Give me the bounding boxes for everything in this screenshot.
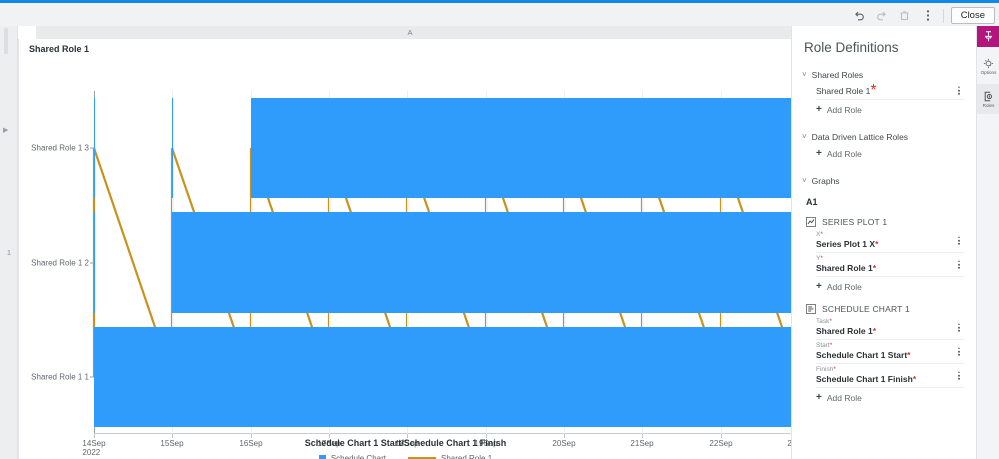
plot-area[interactable]: 14Sep202215Sep16Sep17Sep18Sep19Sep20Sep2… bbox=[94, 91, 799, 434]
required-marker: * bbox=[873, 263, 876, 273]
rail-handle[interactable] bbox=[4, 28, 8, 54]
group-heading: SERIES PLOT 1 bbox=[822, 217, 887, 227]
required-marker: * bbox=[830, 342, 833, 349]
schedule-bar-milestone[interactable] bbox=[172, 98, 173, 199]
plus-icon: + bbox=[816, 282, 822, 292]
required-marker: * bbox=[875, 239, 878, 249]
role-field-label: Start* bbox=[816, 342, 964, 350]
rail-item-options[interactable]: Options bbox=[977, 51, 999, 81]
sheet-corner-cell bbox=[18, 26, 36, 39]
shared-role-row[interactable]: Shared Role 1* bbox=[816, 82, 964, 100]
role-field-label: Task* bbox=[816, 318, 964, 326]
required-marker: * bbox=[820, 231, 823, 238]
chart-panel: Shared Role 1 14Sep202215Sep16Sep17Sep18… bbox=[18, 39, 791, 459]
section-shared-roles: ˅ Shared Roles Shared Role 1* + Add Role bbox=[792, 68, 976, 117]
section-graphs: ˅ Graphs A1 bbox=[792, 174, 976, 207]
legend-label: Schedule Chart bbox=[331, 454, 386, 459]
role-field-value: Shared Role 1* bbox=[816, 263, 964, 274]
rail-collapse-icon[interactable]: ▶ bbox=[3, 126, 8, 134]
row-kebab-icon[interactable] bbox=[954, 321, 964, 333]
add-role-label: Add Role bbox=[827, 282, 862, 292]
add-role-lattice-roles[interactable]: + Add Role bbox=[816, 146, 976, 161]
plus-icon: + bbox=[816, 149, 822, 159]
required-marker: * bbox=[820, 255, 823, 262]
group-header-schedule-chart-1[interactable]: SCHEDULE CHART 1 bbox=[806, 304, 976, 314]
sheet-tab-a[interactable]: A bbox=[380, 26, 440, 39]
add-role-label: Add Role bbox=[827, 393, 862, 403]
right-icon-rail: Options Roles bbox=[976, 26, 999, 459]
row-kebab-icon[interactable] bbox=[954, 258, 964, 270]
plus-icon: + bbox=[816, 393, 822, 403]
section-header-graphs[interactable]: ˅ Graphs bbox=[792, 174, 976, 188]
required-marker: * bbox=[873, 326, 876, 336]
panel-title: Role Definitions bbox=[804, 40, 976, 55]
role-field-label: Finish* bbox=[816, 366, 964, 374]
sheet-tab-a-label: A bbox=[380, 26, 440, 39]
close-button[interactable]: Close bbox=[951, 7, 995, 24]
chevron-down-icon: ˅ bbox=[802, 133, 807, 141]
required-marker: * bbox=[907, 350, 910, 360]
row-kebab-icon[interactable] bbox=[954, 234, 964, 246]
y-tick-label: Shared Role 1 2 bbox=[31, 258, 89, 267]
chart-title: Shared Role 1 bbox=[29, 44, 89, 54]
role-definitions-panel: Role Definitions ˅ Shared Roles Shared R… bbox=[791, 26, 976, 459]
group-header-series-plot-1[interactable]: SERIES PLOT 1 bbox=[806, 217, 976, 227]
legend-item[interactable]: Shared Role 1 bbox=[408, 454, 492, 459]
row-kebab-icon[interactable] bbox=[954, 345, 964, 357]
left-rail: ▶ 1 bbox=[0, 26, 18, 459]
graph-name: A1 bbox=[806, 197, 976, 207]
chart-legend: Schedule ChartShared Role 1 bbox=[19, 454, 792, 459]
row-kebab-icon[interactable] bbox=[954, 369, 964, 381]
x-axis-caption: Schedule Chart 1 Start/Schedule Chart 1 … bbox=[19, 438, 792, 448]
required-marker: * bbox=[913, 374, 916, 384]
rail-item-label: Roles bbox=[983, 103, 995, 108]
options-gear-icon bbox=[983, 58, 994, 69]
rail-row-number: 1 bbox=[0, 248, 18, 257]
section-label: Graphs bbox=[812, 176, 840, 186]
top-toolbar: Close bbox=[0, 3, 999, 26]
series-plot-icon bbox=[806, 217, 816, 227]
legend-swatch bbox=[319, 455, 326, 459]
section-header-lattice-roles[interactable]: ˅ Data Driven Lattice Roles bbox=[792, 130, 976, 144]
add-role-shared-roles[interactable]: + Add Role bbox=[816, 102, 976, 117]
role-field-row[interactable]: Start*Schedule Chart 1 Start* bbox=[816, 340, 964, 364]
role-field-value: Shared Role 1* bbox=[816, 326, 964, 337]
role-field-value: Schedule Chart 1 Start* bbox=[816, 350, 964, 361]
schedule-bar[interactable] bbox=[172, 212, 799, 313]
trash-icon[interactable] bbox=[897, 8, 913, 24]
pin-icon[interactable] bbox=[977, 26, 999, 47]
section-label: Shared Roles bbox=[812, 70, 864, 80]
section-label: Data Driven Lattice Roles bbox=[812, 132, 908, 142]
roles-icon bbox=[983, 91, 994, 102]
shared-role-name: Shared Role 1 bbox=[816, 86, 870, 96]
role-field-row[interactable]: Task*Shared Role 1* bbox=[816, 316, 964, 340]
group-fields-schedule-chart-1: Task*Shared Role 1*Start*Schedule Chart … bbox=[792, 316, 976, 388]
group-fields-series-plot-1: X*Series Plot 1 X*Y*Shared Role 1* bbox=[792, 229, 976, 277]
schedule-bar[interactable] bbox=[94, 327, 799, 428]
role-field-value: Schedule Chart 1 Finish* bbox=[816, 374, 964, 385]
toolbar-divider bbox=[943, 9, 944, 23]
group-heading: SCHEDULE CHART 1 bbox=[822, 304, 910, 314]
role-field-row[interactable]: X*Series Plot 1 X* bbox=[816, 229, 964, 253]
plus-icon: + bbox=[816, 105, 822, 115]
y-tick-label: Shared Role 1 1 bbox=[31, 372, 89, 381]
section-data-driven-lattice-roles: ˅ Data Driven Lattice Roles + Add Role bbox=[792, 130, 976, 161]
chevron-down-icon: ˅ bbox=[802, 71, 807, 79]
role-field-label: Y* bbox=[816, 255, 964, 263]
schedule-bar-milestone[interactable] bbox=[94, 212, 95, 313]
schedule-bar-milestone[interactable] bbox=[94, 98, 95, 199]
redo-icon[interactable] bbox=[874, 8, 890, 24]
role-field-label: X* bbox=[816, 231, 964, 239]
legend-item[interactable]: Schedule Chart bbox=[319, 454, 386, 459]
rail-item-label: Options bbox=[981, 70, 997, 75]
kebab-menu-icon[interactable] bbox=[920, 8, 936, 24]
rail-item-roles[interactable]: Roles bbox=[977, 84, 999, 114]
role-field-row[interactable]: Finish*Schedule Chart 1 Finish* bbox=[816, 364, 964, 388]
y-tick-label: Shared Role 1 3 bbox=[31, 144, 89, 153]
section-header-shared-roles[interactable]: ˅ Shared Roles bbox=[792, 68, 976, 82]
chevron-down-icon: ˅ bbox=[802, 177, 807, 185]
schedule-chart-icon bbox=[806, 304, 816, 314]
add-role-schedule-chart-1[interactable]: + Add Role bbox=[816, 390, 976, 405]
legend-label: Shared Role 1 bbox=[441, 454, 492, 459]
add-role-label: Add Role bbox=[827, 149, 862, 159]
add-role-label: Add Role bbox=[827, 105, 862, 115]
row-kebab-icon[interactable] bbox=[954, 84, 964, 96]
required-marker: * bbox=[829, 318, 832, 325]
required-marker: * bbox=[833, 366, 836, 373]
undo-icon[interactable] bbox=[851, 8, 867, 24]
required-marker: * bbox=[870, 82, 876, 100]
toolbar-actions: Close bbox=[851, 7, 995, 24]
schedule-bar[interactable] bbox=[251, 98, 799, 199]
role-field-row[interactable]: Y*Shared Role 1* bbox=[816, 253, 964, 277]
application-window: Close ▶ 1 A Shared Role 1 14Sep202215Sep… bbox=[0, 0, 999, 459]
role-field-value: Series Plot 1 X* bbox=[816, 239, 964, 250]
add-role-series-plot-1[interactable]: + Add Role bbox=[816, 279, 976, 294]
